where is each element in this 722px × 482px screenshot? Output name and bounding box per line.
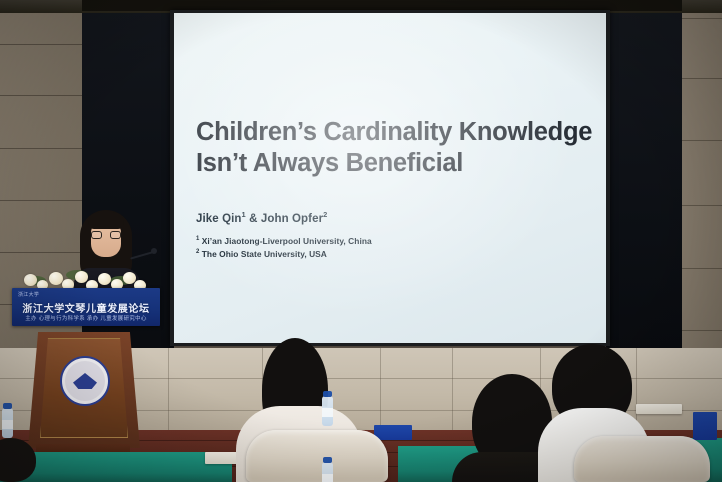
name-placard-right bbox=[693, 412, 717, 440]
slide-title: Children’s Cardinality Knowledge Isn’t A… bbox=[196, 117, 596, 179]
author-two: & John Opfer bbox=[246, 213, 323, 225]
conference-room-photo: Children’s Cardinality Knowledge Isn’t A… bbox=[0, 0, 722, 482]
affiliation-row-1: 1 Xi’an Jiaotong-Liverpool University, C… bbox=[196, 235, 372, 248]
water-bottle-stage bbox=[2, 408, 13, 438]
water-bottle-front bbox=[322, 462, 333, 482]
author-one: Jike Qin bbox=[196, 213, 242, 225]
dark-wall-panel-right bbox=[606, 0, 682, 356]
author-two-superscript: 2 bbox=[323, 210, 327, 219]
slide-title-line-2: Isn’t Always Beneficial bbox=[196, 148, 596, 179]
zju-logo-icon: 浙江大学 bbox=[18, 291, 39, 298]
affiliation-1-text: Xi’an Jiaotong-Liverpool University, Chi… bbox=[199, 236, 371, 246]
podium-banner-subtitle: 主办 心理与行为科学系 承办 儿童发展研究中心 bbox=[12, 314, 160, 322]
chair-left bbox=[246, 430, 388, 482]
wall-panel-right bbox=[678, 0, 722, 372]
slide-authors: Jike Qin1 & John Opfer2 bbox=[196, 210, 327, 225]
water-bottle-left bbox=[322, 396, 333, 426]
microphone-head-icon bbox=[151, 248, 157, 254]
slide-affiliations: 1 Xi’an Jiaotong-Liverpool University, C… bbox=[196, 235, 372, 261]
name-placard-center bbox=[374, 425, 412, 440]
affiliation-2-text: The Ohio State University, USA bbox=[199, 249, 327, 259]
slide-title-line-1: Children’s Cardinality Knowledge bbox=[196, 117, 596, 148]
chair-right bbox=[574, 436, 710, 482]
affiliation-row-2: 2 The Ohio State University, USA bbox=[196, 248, 372, 261]
notebook-on-table-right bbox=[636, 404, 682, 414]
presenter-fringe bbox=[88, 212, 124, 229]
glasses-icon bbox=[91, 231, 121, 239]
podium-banner-title: 浙江大学文琴儿童发展论坛 bbox=[12, 300, 160, 315]
presentation-slide: Children’s Cardinality Knowledge Isn’t A… bbox=[174, 13, 606, 343]
university-emblem-icon bbox=[60, 356, 110, 406]
projection-screen: Children’s Cardinality Knowledge Isn’t A… bbox=[174, 13, 606, 343]
podium-banner: 浙江大学 浙江大学文琴儿童发展论坛 主办 心理与行为科学系 承办 儿童发展研究中… bbox=[12, 288, 160, 326]
